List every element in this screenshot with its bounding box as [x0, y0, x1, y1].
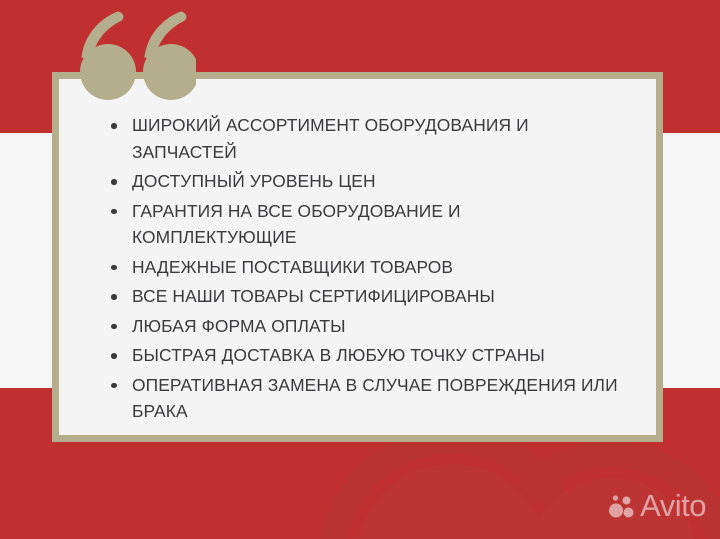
list-item: ОПЕРАТИВНАЯ ЗАМЕНА В СЛУЧАЕ ПОВРЕЖДЕНИЯ …: [105, 372, 630, 425]
slide-canvas: ШИРОКИЙ АССОРТИМЕНТ ОБОРУДОВАНИЯ И ЗАПЧА…: [0, 0, 720, 539]
avito-watermark: Avito: [609, 490, 706, 521]
quotation-mark-icon: [74, 8, 196, 100]
list-item: ВСЕ НАШИ ТОВАРЫ СЕРТИФИЦИРОВАНЫ: [105, 283, 630, 310]
quote-card-frame: ШИРОКИЙ АССОРТИМЕНТ ОБОРУДОВАНИЯ И ЗАПЧА…: [52, 72, 663, 442]
benefits-list: ШИРОКИЙ АССОРТИМЕНТ ОБОРУДОВАНИЯ И ЗАПЧА…: [105, 112, 630, 428]
quote-card-inner: ШИРОКИЙ АССОРТИМЕНТ ОБОРУДОВАНИЯ И ЗАПЧА…: [59, 79, 656, 435]
list-item: НАДЕЖНЫЕ ПОСТАВЩИКИ ТОВАРОВ: [105, 254, 630, 281]
list-item: ДОСТУПНЫЙ УРОВЕНЬ ЦЕН: [105, 168, 630, 195]
list-item: ШИРОКИЙ АССОРТИМЕНТ ОБОРУДОВАНИЯ И ЗАПЧА…: [105, 112, 630, 165]
list-item: ЛЮБАЯ ФОРМА ОПЛАТЫ: [105, 313, 630, 340]
avito-dots-icon: [609, 493, 635, 519]
list-item: БЫСТРАЯ ДОСТАВКА В ЛЮБУЮ ТОЧКУ СТРАНЫ: [105, 342, 630, 369]
avito-watermark-label: Avito: [640, 490, 706, 521]
list-item: ГАРАНТИЯ НА ВСЕ ОБОРУДОВАНИЕ И КОМПЛЕКТУ…: [105, 198, 630, 251]
